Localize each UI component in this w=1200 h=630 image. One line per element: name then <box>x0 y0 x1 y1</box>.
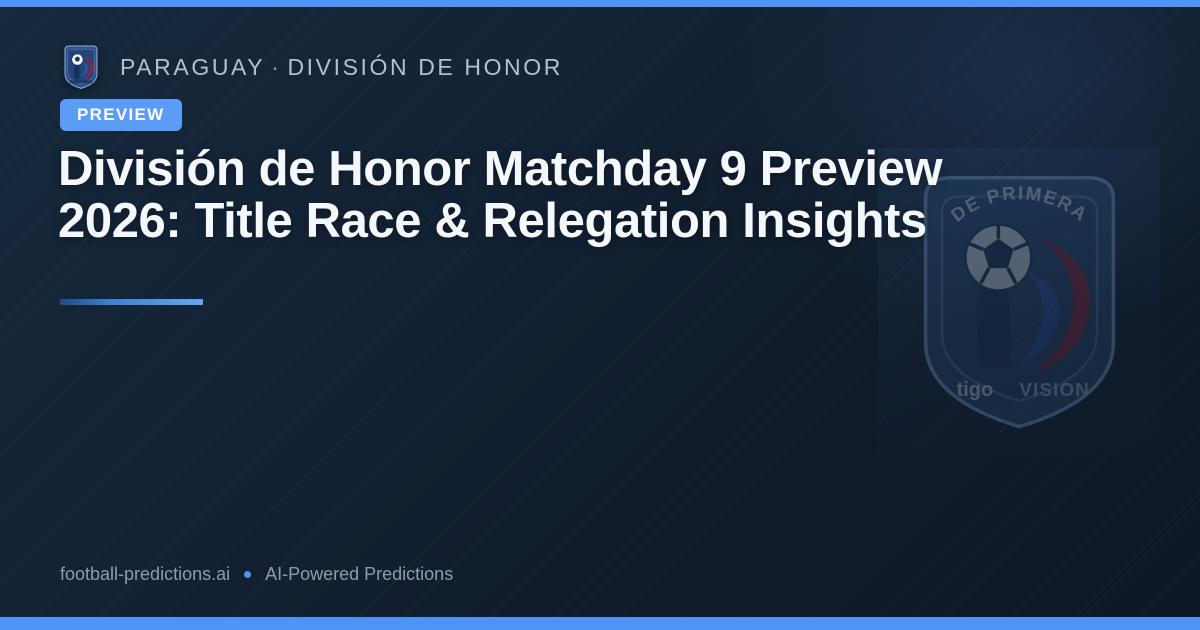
blue-dot-icon <box>244 571 251 578</box>
header-league: DIVISIÓN DE HONOR <box>287 54 563 80</box>
svg-text:VISION: VISION <box>1019 379 1090 400</box>
og-image-card: DE PRIMERA tigo VISION <box>0 0 1200 630</box>
footer-row: football-predictions.ai AI-Powered Predi… <box>60 564 453 585</box>
top-accent-bar <box>0 0 1200 7</box>
page-title: División de Honor Matchday 9 Preview 202… <box>58 143 1068 247</box>
header-separator: · <box>271 54 281 80</box>
league-crest-icon <box>60 44 102 90</box>
svg-text:tigo: tigo <box>956 379 993 401</box>
footer-site: football-predictions.ai <box>60 564 230 585</box>
bottom-accent-bar <box>0 617 1200 630</box>
header-row: PARAGUAY·DIVISIÓN DE HONOR <box>60 44 563 90</box>
header-country: PARAGUAY <box>120 54 265 80</box>
status-badge: PREVIEW <box>60 99 182 131</box>
footer-tagline: AI-Powered Predictions <box>265 564 453 585</box>
header-label: PARAGUAY·DIVISIÓN DE HONOR <box>120 54 563 81</box>
title-accent-bar <box>60 299 203 305</box>
